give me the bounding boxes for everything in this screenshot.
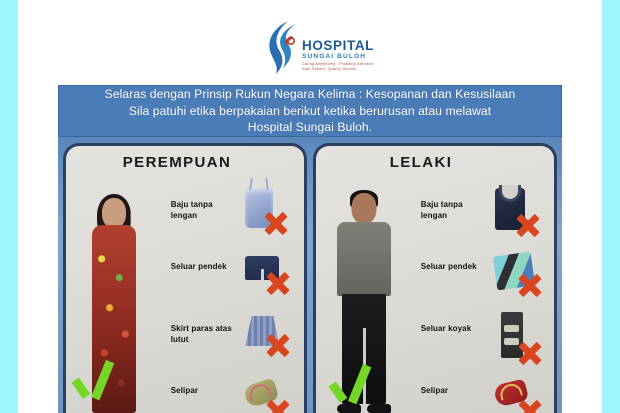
red-x-icon <box>515 212 541 238</box>
panel-lelaki-title: LELAKI <box>313 154 540 171</box>
panel-perempuan: PEREMPUAN Baju tanpa lengan Seluar pende… <box>63 143 307 413</box>
list-item: Seluar pendek <box>421 248 554 310</box>
dress-code-poster: PEREMPUAN Baju tanpa lengan Seluar pende… <box>58 137 562 413</box>
item-label: Baju tanpa lengan <box>171 200 240 221</box>
item-label: Baju tanpa lengan <box>421 200 490 221</box>
item-illustration <box>237 248 298 306</box>
item-illustration <box>487 372 548 413</box>
panel-perempuan-title: PEREMPUAN <box>63 154 296 171</box>
list-item: Baju tanpa lengan <box>421 186 554 248</box>
figure-woman-allowed <box>83 198 145 413</box>
green-check-icon-man <box>338 359 372 407</box>
item-label: Skirt paras atas lutut <box>171 324 240 345</box>
logo-tagline-line-2: Safe Patient, Quality Service <box>302 67 374 72</box>
lelaki-banned-items: Baju tanpa lengan Seluar pendek Seluar k… <box>421 186 554 413</box>
list-item: Selipar <box>421 372 554 413</box>
panel-lelaki: LELAKI Baju tanpa lengan S <box>313 143 557 413</box>
banner-line-2: Sila patuhi etika berpakaian berikut ket… <box>129 103 491 120</box>
item-illustration <box>487 186 548 244</box>
man-collared-shirt <box>337 222 391 296</box>
red-x-icon <box>265 332 291 358</box>
green-check-icon-woman <box>81 355 115 403</box>
item-illustration <box>237 372 298 413</box>
list-item: Baju tanpa lengan <box>171 186 304 248</box>
list-item: Seluar koyak <box>421 310 554 372</box>
red-x-icon <box>517 272 543 298</box>
screenshot-canvas: HOSPITAL SUNGAI BULOH Caring Attentively… <box>0 0 620 413</box>
list-item: Skirt paras atas lutut <box>171 310 304 372</box>
red-x-icon <box>265 270 291 296</box>
man-head <box>352 193 377 224</box>
logo-title: HOSPITAL <box>302 39 374 53</box>
item-label: Seluar koyak <box>421 324 490 335</box>
item-label: Seluar pendek <box>421 262 490 273</box>
red-x-icon <box>517 398 543 413</box>
red-x-icon <box>517 340 543 366</box>
item-label: Selipar <box>171 386 240 397</box>
hospital-logo: HOSPITAL SUNGAI BULOH Caring Attentively… <box>0 14 620 80</box>
red-x-icon <box>263 210 289 236</box>
item-illustration <box>237 186 298 244</box>
banner-line-3: Hospital Sungai Buloh. <box>248 119 372 136</box>
woman-head <box>102 198 126 228</box>
item-label: Selipar <box>421 386 490 397</box>
list-item: Selipar <box>171 372 304 413</box>
list-item: Seluar pendek <box>171 248 304 310</box>
logo-tagline: Caring Attentively · Probably Attentive … <box>302 62 374 72</box>
perempuan-banned-items: Baju tanpa lengan Seluar pendek Skirt pa… <box>171 186 304 413</box>
item-illustration <box>237 310 298 368</box>
red-x-icon <box>265 398 291 413</box>
hospital-swoosh-logo-icon <box>258 18 300 76</box>
item-illustration <box>487 310 548 368</box>
banner-line-1: Selaras dengan Prinsip Rukun Negara Keli… <box>105 86 516 103</box>
item-illustration <box>487 248 548 306</box>
dress-code-banner: Selaras dengan Prinsip Rukun Negara Keli… <box>58 85 562 137</box>
logo-subtitle: SUNGAI BULOH <box>302 54 374 61</box>
item-label: Seluar pendek <box>171 262 240 273</box>
figure-man-allowed <box>330 193 398 413</box>
